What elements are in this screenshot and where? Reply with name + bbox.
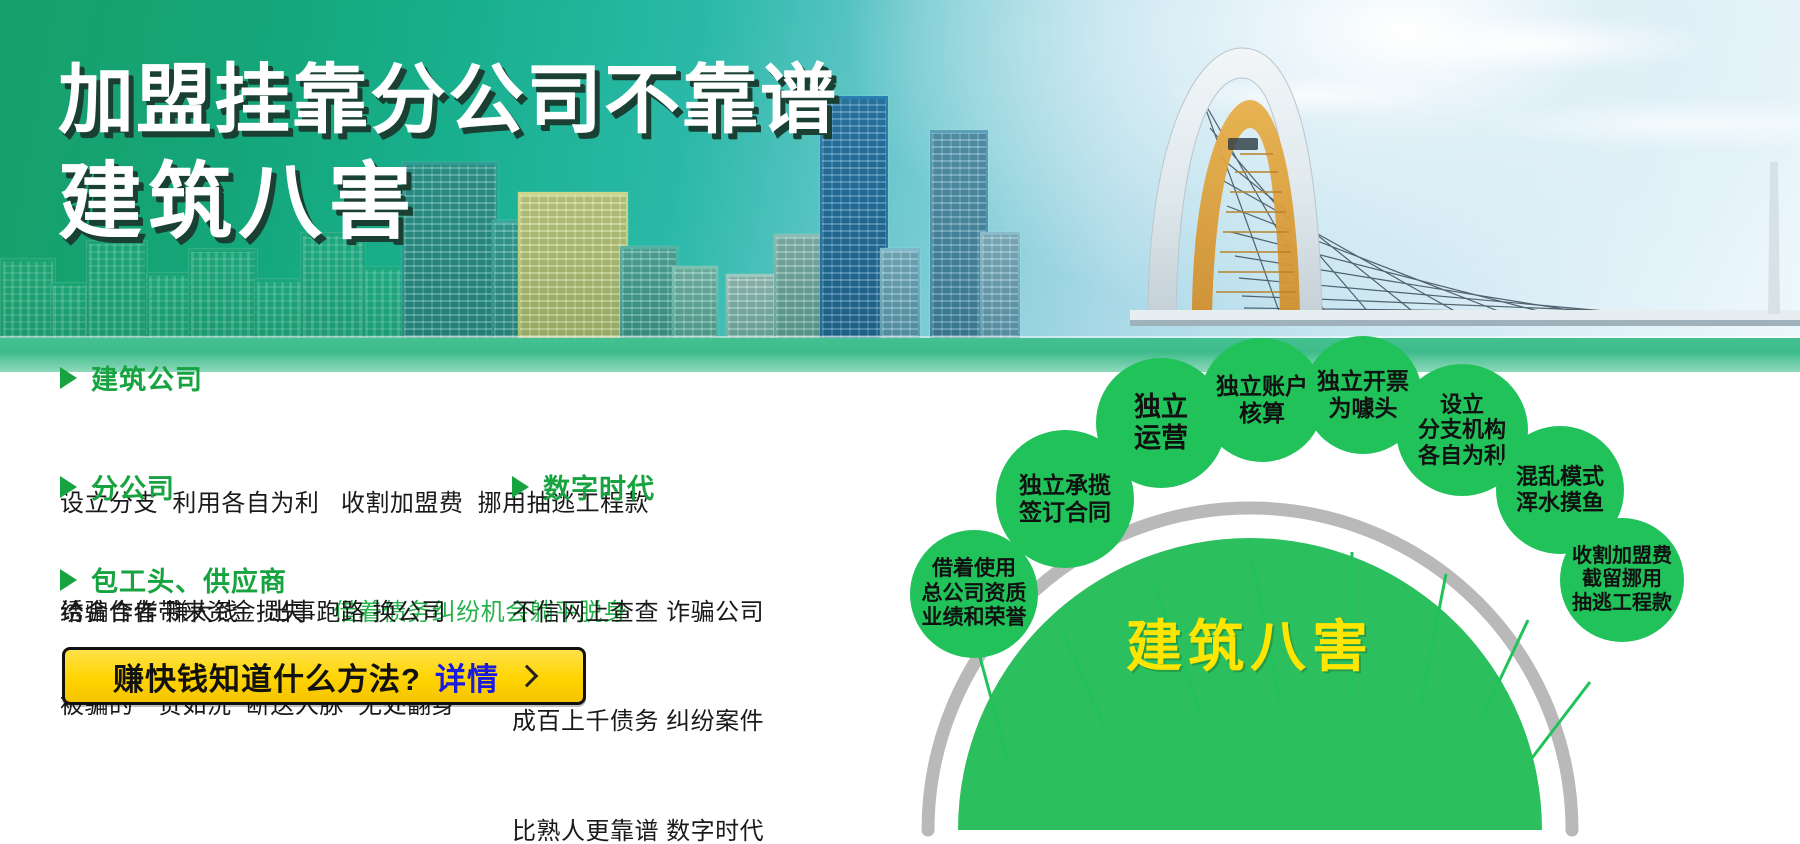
building-tower-main <box>980 232 1020 344</box>
section-heading-contractor-supplier: 包工头、供应商 <box>60 560 456 599</box>
section-heading-label: 建筑公司 <box>91 358 203 397</box>
body-line: 不信网上查查 诈骗公司 <box>512 595 764 631</box>
building-cluster <box>672 266 718 344</box>
section-heading-label: 分公司 <box>91 467 175 506</box>
section-heading-construction-company: 建筑公司 <box>60 358 649 397</box>
hero-banner: 加盟挂靠分公司不靠谱 建筑八害 <box>0 0 1800 372</box>
bubble-node[interactable]: 收割加盟费 截留挪用 抽逃工程款 <box>1560 518 1684 642</box>
triangle-bullet-icon <box>512 476 529 498</box>
cta-button[interactable]: 赚快钱知道什么方法? 详情 <box>62 647 586 705</box>
body-line: 成百上千债务 纠纷案件 <box>512 704 764 740</box>
section-heading-branch-company: 分公司 <box>60 467 446 506</box>
building-cluster <box>620 246 678 344</box>
left-content-column: 建筑公司 设立分支 利用各自为利 收割加盟费 挪用抽逃工程款 给合作者带来资金损… <box>0 372 920 844</box>
chevron-right-icon <box>516 665 539 688</box>
section-heading-label: 数字时代 <box>543 467 655 506</box>
body-line: 比熟人更靠谱 数字时代 <box>512 814 764 844</box>
section-heading-digital-era: 数字时代 <box>512 467 764 506</box>
bridge-illustration <box>1130 42 1800 342</box>
section-heading-label: 包工头、供应商 <box>91 560 287 599</box>
hero-title: 加盟挂靠分公司不靠谱 建筑八害 <box>58 52 838 257</box>
poster-root: 加盟挂靠分公司不靠谱 建筑八害 建筑公司 设立分支 利用各自为利 收割加盟费 挪… <box>0 0 1800 844</box>
section-body-contractor-supplier: 被骗的一贫如洗 断送人脉 无处翻身 <box>60 615 456 797</box>
hero-title-line-2: 建筑八害 <box>58 149 838 257</box>
dome-center-label: 建筑八害 <box>1072 602 1428 683</box>
triangle-bullet-icon <box>60 367 77 389</box>
triangle-bullet-icon <box>60 476 77 498</box>
bubble-diagram: 借着使用 总公司资质 业绩和荣誉 独立承揽 签订合同 独立 运营 独立账户 核算… <box>900 330 1800 844</box>
triangle-bullet-icon <box>60 569 77 591</box>
cta-label: 赚快钱知道什么方法? <box>113 654 421 699</box>
cta-link-label[interactable]: 详情 <box>435 654 499 699</box>
hero-title-line-1: 加盟挂靠分公司不靠谱 <box>58 52 838 149</box>
building-cluster <box>726 274 778 344</box>
